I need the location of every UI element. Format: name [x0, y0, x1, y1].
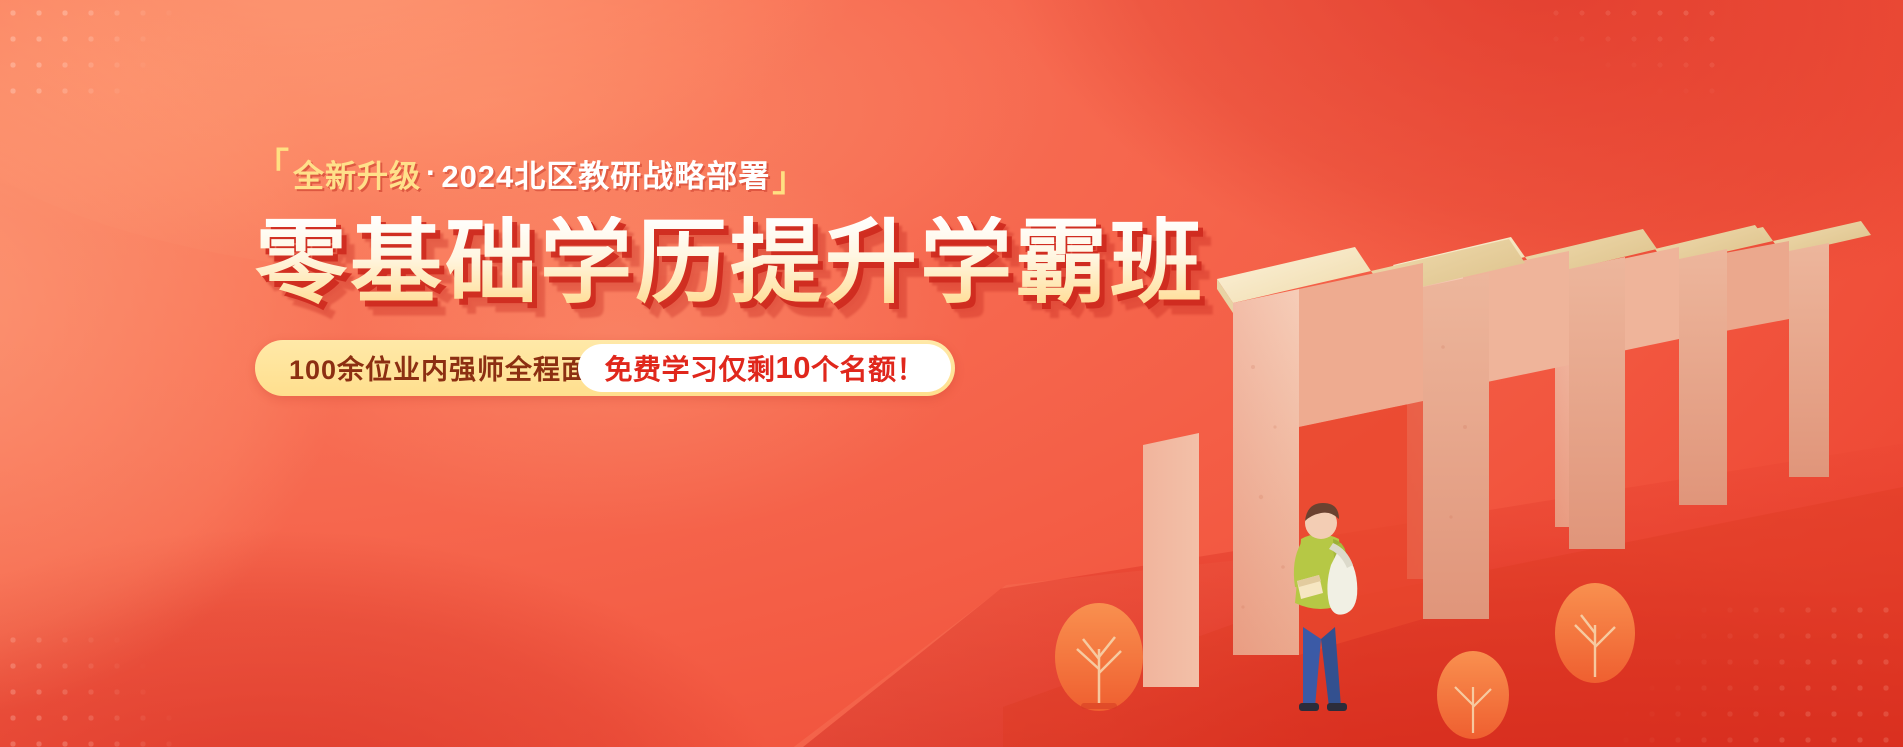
close-bracket: 」	[772, 163, 807, 197]
page-title: 零基础学历提升学霸班	[255, 216, 1205, 312]
tree-left	[1055, 603, 1143, 711]
eyebrow-white-text: 2024北区教研战略部署	[439, 151, 772, 196]
badge-seats-remaining[interactable]: 免费学习仅剩10个名额！	[578, 344, 951, 392]
front-pillar	[1143, 433, 1199, 687]
eyebrow-gold-text: 全新升级	[290, 151, 424, 196]
dot-grid-top-right-icon	[1543, 0, 1733, 95]
promo-banner: 「 全新升级 · 2024北区教研战略部署 」 零基础学历提升学霸班 100余位…	[0, 0, 1903, 747]
badge-seats-number: 10	[776, 350, 811, 386]
badge-seats-prefix: 免费学习仅剩	[604, 348, 775, 388]
tree-far-right	[1555, 583, 1635, 683]
badge-group: 100余位业内强师全程面授 免费学习仅剩10个名额！	[255, 340, 955, 396]
eyebrow-separator: ·	[424, 155, 439, 191]
dot-grid-top-left-icon	[0, 0, 215, 110]
tree-right	[1437, 651, 1509, 739]
dot-grid-bottom-left-icon	[0, 627, 180, 747]
banner-content: 「 全新升级 · 2024北区教研战略部署 」 零基础学历提升学霸班 100余位…	[255, 150, 1205, 396]
badge-seats-suffix: 个名额！	[811, 348, 925, 388]
eyebrow-line: 「 全新升级 · 2024北区教研战略部署 」	[255, 150, 1205, 196]
open-bracket: 「	[255, 149, 290, 183]
book-arch-1	[1217, 239, 1525, 655]
